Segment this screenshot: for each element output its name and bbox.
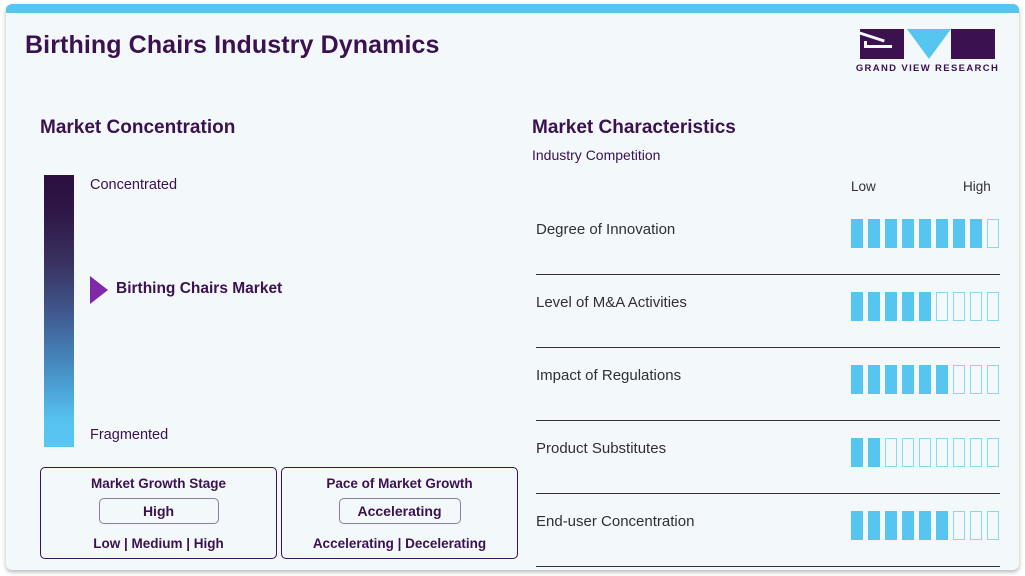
- meter-segment-filled: [868, 438, 880, 467]
- market-growth-stage-value[interactable]: High: [99, 498, 219, 524]
- scale-high-label: High: [963, 179, 991, 194]
- meter-segment-filled: [919, 365, 931, 394]
- concentration-top-label: Concentrated: [90, 177, 177, 193]
- characteristic-row: Level of M&A Activities: [536, 275, 1000, 348]
- meter-segment-empty: [902, 438, 914, 467]
- market-position-arrow-icon: [90, 276, 108, 304]
- characteristic-meter: [851, 511, 999, 540]
- characteristic-row: End-user Concentration: [536, 494, 1000, 567]
- meter-segment-filled: [953, 219, 965, 248]
- meter-segment-filled: [885, 365, 897, 394]
- meter-segment-empty: [953, 292, 965, 321]
- meter-segment-empty: [953, 365, 965, 394]
- market-growth-stage-title: Market Growth Stage: [41, 476, 276, 491]
- meter-segment-empty: [936, 292, 948, 321]
- market-characteristics-subtitle: Industry Competition: [532, 147, 660, 163]
- characteristic-label: Degree of Innovation: [536, 221, 675, 238]
- pace-of-market-growth-title: Pace of Market Growth: [282, 476, 517, 491]
- logo-v-triangle-icon: [907, 29, 951, 59]
- meter-segment-filled: [851, 292, 863, 321]
- meter-segment-empty: [919, 438, 931, 467]
- market-growth-stage-card: Market Growth Stage High Low | Medium | …: [40, 467, 277, 559]
- logo-g-notch-vertical-icon: [864, 41, 867, 48]
- meter-segment-empty: [953, 438, 965, 467]
- meter-segment-filled: [970, 219, 982, 248]
- pace-of-market-growth-options: Accelerating | Decelerating: [282, 536, 517, 551]
- characteristic-row: Degree of Innovation: [536, 202, 1000, 275]
- meter-segment-filled: [851, 438, 863, 467]
- meter-segment-empty: [885, 438, 897, 467]
- meter-segment-filled: [868, 219, 880, 248]
- meter-segment-filled: [902, 292, 914, 321]
- meter-segment-filled: [902, 365, 914, 394]
- meter-segment-filled: [936, 219, 948, 248]
- market-characteristics-title: Market Characteristics: [532, 117, 736, 139]
- logo-r-block-icon: [951, 29, 995, 59]
- logo-wordmark: GRAND VIEW RESEARCH: [852, 63, 1003, 74]
- page-title: Birthing Chairs Industry Dynamics: [25, 31, 440, 60]
- scale-low-label: Low: [851, 179, 876, 194]
- concentration-gradient-bar: [44, 175, 74, 447]
- meter-segment-filled: [851, 219, 863, 248]
- logo-marks: [852, 29, 1003, 59]
- market-growth-stage-options: Low | Medium | High: [41, 536, 276, 551]
- meter-segment-empty: [987, 292, 999, 321]
- characteristic-meter: [851, 438, 999, 467]
- meter-segment-empty: [987, 438, 999, 467]
- meter-segment-filled: [851, 511, 863, 540]
- pace-of-market-growth-value[interactable]: Accelerating: [338, 498, 460, 524]
- meter-segment-filled: [885, 511, 897, 540]
- brand-logo: GRAND VIEW RESEARCH: [852, 29, 1003, 79]
- meter-segment-filled: [868, 292, 880, 321]
- meter-segment-filled: [868, 365, 880, 394]
- characteristic-label: Impact of Regulations: [536, 367, 681, 384]
- market-concentration-title: Market Concentration: [40, 117, 235, 139]
- concentration-bottom-label: Fragmented: [90, 427, 168, 443]
- meter-segment-filled: [868, 511, 880, 540]
- meter-segment-empty: [970, 365, 982, 394]
- meter-segment-empty: [970, 292, 982, 321]
- meter-segment-empty: [970, 438, 982, 467]
- meter-segment-filled: [885, 292, 897, 321]
- meter-segment-filled: [936, 511, 948, 540]
- meter-segment-empty: [987, 365, 999, 394]
- meter-segment-filled: [902, 219, 914, 248]
- logo-g-notch-horizontal-icon: [864, 45, 892, 48]
- pace-of-market-growth-card: Pace of Market Growth Accelerating Accel…: [281, 467, 518, 559]
- characteristic-meter: [851, 219, 999, 248]
- meter-segment-empty: [987, 511, 999, 540]
- characteristic-meter: [851, 365, 999, 394]
- meter-segment-empty: [970, 511, 982, 540]
- meter-segment-empty: [936, 438, 948, 467]
- characteristic-meter: [851, 292, 999, 321]
- dashboard-card: Birthing Chairs Industry Dynamics GRAND …: [6, 4, 1019, 570]
- meter-segment-filled: [885, 219, 897, 248]
- characteristic-label: Product Substitutes: [536, 440, 666, 457]
- meter-segment-filled: [919, 292, 931, 321]
- meter-segment-empty: [953, 511, 965, 540]
- meter-segment-filled: [919, 219, 931, 248]
- meter-segment-filled: [851, 365, 863, 394]
- accent-top-bar: [6, 4, 1019, 13]
- meter-segment-filled: [919, 511, 931, 540]
- characteristic-row: Impact of Regulations: [536, 348, 1000, 421]
- meter-segment-filled: [902, 511, 914, 540]
- market-position-label: Birthing Chairs Market: [116, 280, 282, 298]
- characteristic-row: Product Substitutes: [536, 421, 1000, 494]
- meter-segment-filled: [936, 365, 948, 394]
- market-characteristics-rows: Degree of InnovationLevel of M&A Activit…: [536, 202, 1000, 567]
- characteristic-label: Level of M&A Activities: [536, 294, 687, 311]
- meter-segment-empty: [987, 219, 999, 248]
- characteristic-label: End-user Concentration: [536, 513, 694, 530]
